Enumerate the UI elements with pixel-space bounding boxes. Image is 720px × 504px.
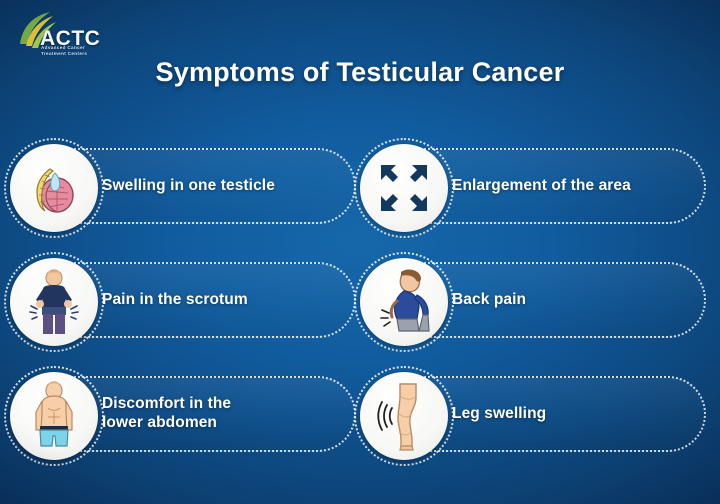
symptom-label: Leg swelling	[452, 405, 546, 424]
symptoms-grid: Swelling in one testicle Enlargement o	[0, 143, 720, 463]
badge-pain-in-scrotum	[4, 252, 104, 352]
page-title: Symptoms of Testicular Cancer	[0, 57, 720, 88]
symptom-label: Pain in the scrotum	[102, 291, 248, 310]
symptom-card-swelling-one-testicle[interactable]: Swelling in one testicle	[16, 148, 356, 224]
testicle-anatomy-icon	[23, 157, 85, 219]
symptom-card-pain-in-scrotum[interactable]: Pain in the scrotum	[16, 262, 356, 338]
symptom-label: Discomfort in the lower abdomen	[102, 395, 231, 433]
actc-logo: ACTC Advanced Cancer Treatment Centers	[16, 10, 126, 58]
symptom-card-back-pain[interactable]: Back pain	[366, 262, 706, 338]
symptom-card-leg-swelling[interactable]: Leg swelling	[366, 376, 706, 452]
badge-enlargement-of-area	[354, 138, 454, 238]
swollen-leg-icon	[374, 380, 434, 452]
badge-discomfort-lower-abdomen	[4, 366, 104, 466]
symptom-label: Swelling in one testicle	[102, 177, 275, 196]
infographic-canvas: ACTC Advanced Cancer Treatment Centers S…	[0, 0, 720, 504]
badge-swelling-one-testicle	[4, 138, 104, 238]
symptom-label: Enlargement of the area	[452, 177, 631, 196]
symptom-card-discomfort-lower-abdomen[interactable]: Discomfort in the lower abdomen	[16, 376, 356, 452]
badge-back-pain	[354, 252, 454, 352]
man-groin-pain-icon	[23, 267, 85, 337]
torso-abdomen-icon	[23, 380, 85, 452]
expand-arrows-icon	[377, 161, 431, 215]
badge-leg-swelling	[354, 366, 454, 466]
symptom-card-enlargement-of-area[interactable]: Enlargement of the area	[366, 148, 706, 224]
logo-tagline: Advanced Cancer Treatment Centers	[41, 45, 131, 57]
man-back-pain-icon	[371, 267, 437, 337]
symptom-label: Back pain	[452, 291, 526, 310]
